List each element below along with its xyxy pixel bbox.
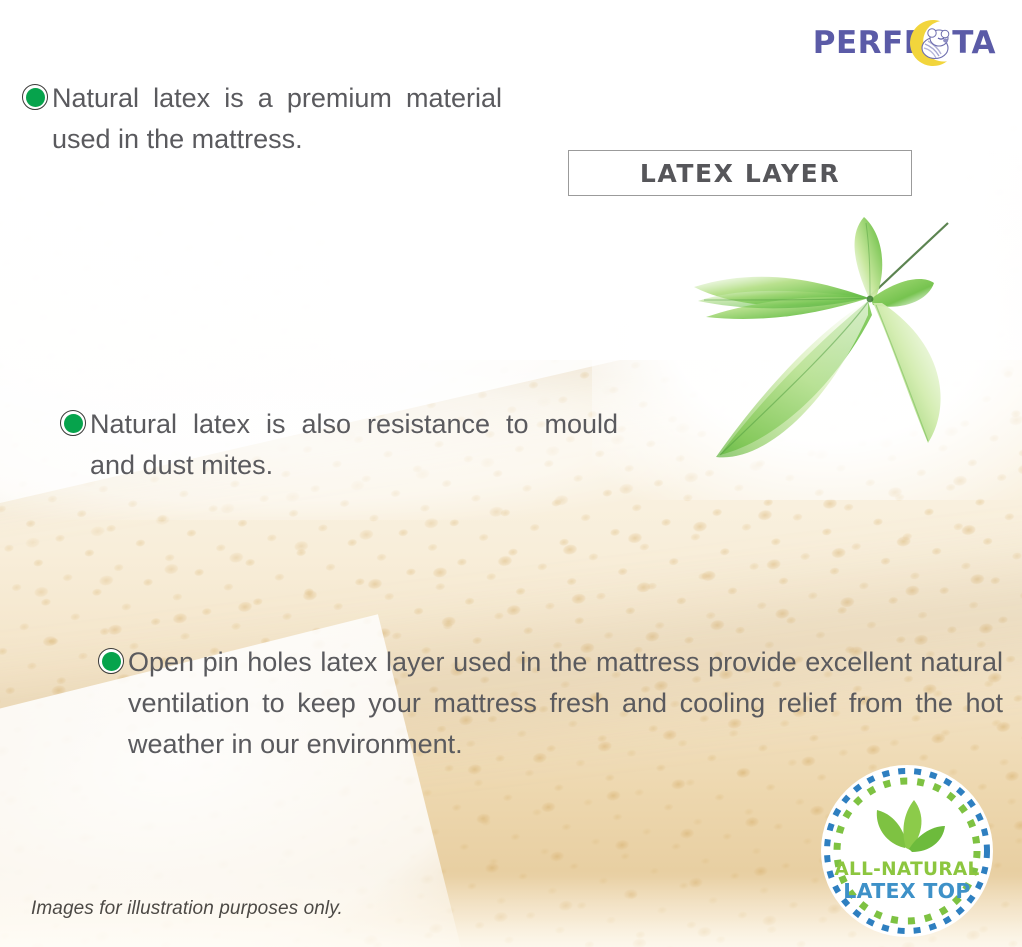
green-dot-bullet-icon [98, 648, 124, 674]
bullet-text-3: Open pin holes latex layer used in the m… [128, 642, 1003, 765]
green-dot-bullet-icon [22, 84, 48, 110]
badge-line-2: LATEX TOP [843, 879, 970, 903]
bullet-text-2: Natural latex is also resistance to moul… [90, 404, 618, 486]
crescent-moon-sleeping-koala-icon [908, 18, 958, 68]
page-title: LATEX LAYER [640, 159, 840, 188]
bullet-text-1: Natural latex is a premium material used… [52, 78, 502, 160]
brand-logo-text: PERFEOTA [813, 28, 996, 59]
latex-layer-title-box: LATEX LAYER [568, 150, 912, 196]
all-natural-latex-top-badge: ALL-NATURAL LATEX TOP [818, 762, 996, 940]
badge-line-1: ALL-NATURAL [834, 859, 979, 880]
bullet-item-1: Natural latex is a premium material used… [22, 78, 502, 160]
brand-logo: PERFEOTA [813, 20, 996, 66]
green-dot-bullet-icon [60, 410, 86, 436]
brand-logo-text-after: TA [952, 25, 996, 61]
bullet-item-3: Open pin holes latex layer used in the m… [98, 642, 1003, 765]
background-right-white-veil [592, 170, 1022, 500]
bullet-item-2: Natural latex is also resistance to moul… [60, 404, 620, 486]
footer-disclaimer: Images for illustration purposes only. [31, 898, 343, 920]
latex-layer-poster: PERFEOTA [0, 0, 1022, 947]
